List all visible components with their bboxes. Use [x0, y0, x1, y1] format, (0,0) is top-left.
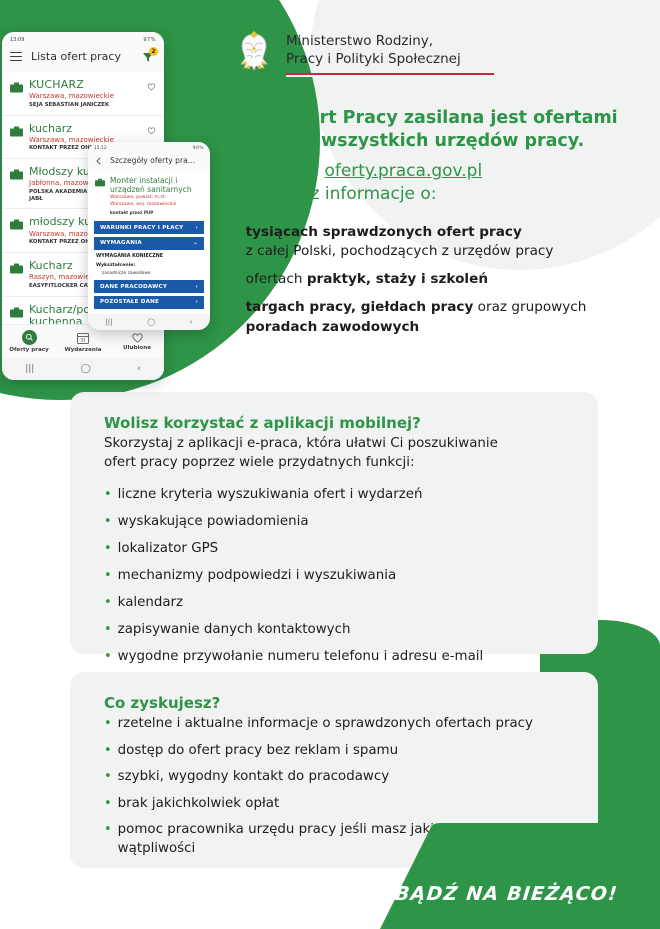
bottom-green-banner — [320, 819, 660, 929]
list-item-label: szybki, wygodny kontakt do pracodawcy — [118, 768, 390, 787]
list-item: •zapisywanie danych kontaktowych — [104, 621, 572, 640]
accordion-label: DANE PRACODAWCY — [100, 284, 167, 290]
chevron-down-icon: ⌄ — [193, 240, 198, 246]
recents-button-icon[interactable]: ||| — [25, 364, 34, 374]
bullet-dot-icon: • — [104, 513, 112, 532]
favorite-heart-icon[interactable] — [147, 82, 156, 91]
list-item-label: lokalizator GPS — [118, 540, 218, 559]
list-item: •rzetelne i aktualne informacje o sprawd… — [104, 715, 572, 734]
status-battery: 97% — [143, 37, 156, 43]
bullet-dot-icon: • — [104, 567, 112, 586]
detail-job-note: kontakt przez PUP — [110, 210, 203, 215]
favorite-heart-icon[interactable] — [147, 126, 156, 135]
status-battery: 90% — [193, 146, 204, 151]
bullet-dot-icon: • — [232, 298, 240, 337]
job-title: KUCHARZ — [29, 79, 114, 91]
chevron-right-icon: › — [195, 284, 198, 290]
requirements-heading: WYMAGANIA KONIECZNE — [96, 254, 202, 259]
briefcase-icon — [10, 307, 23, 318]
bullet-dot-icon: • — [104, 768, 112, 787]
android-navigation-bar: ||| ◯ ‹ — [88, 314, 210, 330]
oferty-praca-link[interactable]: oferty.praca.gov.pl — [324, 161, 482, 181]
site-subline: Na stronie oferty.praca.gov.pl znajdzies… — [232, 160, 632, 206]
accordion-wymagania[interactable]: WYMAGANIA ⌄ — [94, 237, 204, 250]
intro-bullet-3-normal: oraz grupowych — [473, 299, 586, 315]
list-item-label: kalendarz — [118, 594, 183, 613]
requirements-item: zasadnicze zawodowe — [96, 271, 202, 276]
list-item: •lokalizator GPS — [104, 540, 572, 559]
accordion-wymagania-body: WYMAGANIA KONIECZNE Wykształcenie: zasad… — [88, 250, 210, 278]
intro-block: Ministerstwo Rodziny, Pracy i Polityki S… — [232, 28, 632, 346]
briefcase-icon — [10, 169, 23, 180]
list-item-label: liczne kryteria wyszukiwania ofert i wyd… — [118, 486, 423, 505]
bullet-dot-icon: • — [232, 270, 240, 289]
chevron-right-icon: › — [195, 299, 198, 305]
accordion-warunki-pracy-i-placy[interactable]: WARUNKI PRACY I PŁACY › — [94, 221, 204, 234]
mobile-card-lead-line2: ofert pracy poprzez wiele przydatnych fu… — [104, 454, 572, 473]
list-item: •brak jakichkolwiek opłat — [104, 795, 572, 814]
subline-suffix: znajdziesz informacje o: — [232, 184, 437, 204]
bullet-dot-icon: • — [232, 223, 240, 262]
nav-item-oferty-pracy[interactable]: Oferty pracy — [2, 325, 56, 358]
back-button-icon[interactable]: ‹ — [190, 318, 193, 326]
list-item: •liczne kryteria wyszukiwania ofert i wy… — [104, 486, 572, 505]
intro-bullet-1: • tysiącach sprawdzonych ofert pracyz ca… — [232, 223, 632, 262]
job-employer: KONTAKT PRZEZ OHP — [29, 239, 97, 246]
intro-bullet-1-bold: tysiącach sprawdzonych ofert pracy — [246, 224, 522, 240]
bullet-dot-icon: • — [104, 742, 112, 761]
android-navigation-bar: ||| ◯ ‹ — [2, 358, 164, 380]
status-time: 13:09 — [10, 37, 24, 43]
requirements-subheading: Wykształcenie: — [96, 263, 202, 268]
search-icon — [22, 330, 37, 345]
recents-button-icon[interactable]: ||| — [105, 318, 112, 326]
bullet-dot-icon: • — [104, 795, 112, 814]
intro-bullet-1-line2: z całej Polski, pochodzących z urzędów p… — [246, 243, 554, 259]
briefcase-icon — [10, 263, 23, 274]
briefcase-icon — [10, 219, 23, 230]
polish-flag-rule — [286, 73, 494, 77]
status-time: 15:12 — [94, 146, 107, 151]
polish-eagle-emblem-icon — [232, 28, 276, 76]
accordion-dane-pracodawcy[interactable]: DANE PRACODAWCY › — [94, 280, 204, 293]
detail-job-location-2: Warszawa, woj. mazowieckie — [110, 202, 203, 208]
job-title: kucharz — [29, 123, 114, 135]
bullet-dot-icon: • — [104, 621, 112, 640]
intro-bullet-3-bold: targach pracy, giełdach pracy — [246, 299, 474, 315]
job-employer: SEJA SEBASTIAN JANICZEK — [29, 102, 114, 109]
intro-bullet-2-pre: ofertach — [246, 271, 307, 287]
phone-mockup-offer-detail: 15:12 90% Szczegóły oferty pra... Monter… — [88, 142, 210, 330]
list-item: •dostęp do ofert pracy bez reklam i spam… — [104, 742, 572, 761]
bullet-dot-icon: • — [104, 594, 112, 613]
list-item-label: rzetelne i aktualne informacje o sprawdz… — [118, 715, 533, 734]
intro-bullet-2-bold: praktyk, staży i szkoleń — [307, 271, 488, 287]
bullet-dot-icon: • — [104, 486, 112, 505]
intro-bullet-3-line2: poradach zawodowych — [246, 319, 420, 335]
nav-label: Oferty pracy — [9, 347, 49, 353]
job-title: młodszy kuc — [29, 216, 97, 228]
briefcase-icon — [95, 178, 105, 187]
status-bar: 15:12 90% — [88, 142, 210, 152]
list-item: •kalendarz — [104, 594, 572, 613]
detail-title: Szczegóły oferty pra... — [110, 156, 195, 165]
list-item: •wygodne przywołanie numeru telefonu i a… — [104, 648, 572, 667]
intro-bullet-3: • targach pracy, giełdach pracy oraz gru… — [232, 298, 632, 337]
list-item-label: dostęp do ofert pracy bez reklam i spamu — [118, 742, 398, 761]
ministry-name-line1: Ministerstwo Rodziny, — [286, 32, 494, 50]
nav-label: Ulubione — [123, 345, 151, 351]
mobile-card-list: •liczne kryteria wyszukiwania ofert i wy… — [104, 486, 572, 667]
table-row[interactable]: KUCHARZ Warszawa, mazowieckie SEJA SEBAS… — [2, 72, 164, 116]
accordion-label: WYMAGANIA — [100, 240, 142, 246]
detail-job-location-1: Warszawa, powiat: m.st. — [110, 195, 203, 201]
ministry-logo-row: Ministerstwo Rodziny, Pracy i Polityki S… — [232, 28, 632, 77]
svg-text:31: 31 — [80, 337, 86, 343]
poster-canvas: BĄDŹ NA BIEŻĄCO! — [0, 0, 660, 929]
mobile-app-card: Wolisz korzystać z aplikacji mobilnej? S… — [70, 392, 598, 654]
detail-offer-header: Monter instalacji i urządzeń sanitarnych… — [88, 171, 210, 219]
intro-bullet-2: • ofertach praktyk, staży i szkoleń — [232, 270, 632, 289]
list-item-label: wygodne przywołanie numeru telefonu i ad… — [118, 648, 484, 667]
job-location: Warszawa, mazowieckie — [29, 92, 114, 100]
back-button-icon[interactable]: ‹ — [137, 364, 141, 374]
home-button-icon[interactable]: ◯ — [81, 364, 91, 374]
list-item: •wyskakujące powiadomienia — [104, 513, 572, 532]
list-item: •szybki, wygodny kontakt do pracodawcy — [104, 768, 572, 787]
back-arrow-icon[interactable] — [95, 157, 103, 165]
bullet-dot-icon: • — [104, 540, 112, 559]
mobile-card-lead-line1: Skorzystaj z aplikacji e-praca, która uł… — [104, 435, 572, 454]
status-bar: 13:09 97% — [2, 32, 164, 45]
page-headline: Baza Ofert Pracy zasilana jest ofertami … — [232, 107, 632, 153]
detail-job-title: Monter instalacji i urządzeń sanitarnych — [110, 176, 203, 194]
intro-bullet-list: • tysiącach sprawdzonych ofert pracyz ca… — [232, 223, 632, 337]
filter-badge: 2 — [149, 47, 158, 56]
app-title: Lista ofert pracy — [31, 50, 121, 63]
bullet-dot-icon: • — [104, 648, 112, 667]
list-item-label: mechanizmy podpowiedzi i wyszukiwania — [118, 567, 397, 586]
bullet-dot-icon: • — [104, 715, 112, 734]
accordion-label: WARUNKI PRACY I PŁACY — [100, 225, 183, 231]
subline-prefix: Na stronie — [232, 161, 324, 181]
ministry-name-line2: Pracy i Polityki Społecznej — [286, 50, 494, 68]
detail-app-bar: Szczegóły oferty pra... — [88, 152, 210, 171]
bullet-dot-icon: • — [104, 821, 112, 858]
job-location: Warszawa, mazow — [29, 230, 97, 238]
list-item-label: wyskakujące powiadomienia — [118, 513, 309, 532]
list-item-label: brak jakichkolwiek opłat — [118, 795, 280, 814]
briefcase-icon — [10, 82, 23, 93]
app-bar: Lista ofert pracy 2 — [2, 45, 164, 72]
hamburger-menu-icon[interactable] — [10, 52, 22, 62]
mobile-card-title: Wolisz korzystać z aplikacji mobilnej? — [104, 414, 572, 432]
list-item: •mechanizmy podpowiedzi i wyszukiwania — [104, 567, 572, 586]
accordion-pozostale-dane[interactable]: POZOSTAŁE DANE › — [94, 296, 204, 309]
chevron-right-icon: › — [195, 225, 198, 231]
heart-icon — [131, 332, 144, 343]
banner-text: BĄDŹ NA BIEŻĄCO! — [394, 883, 619, 905]
home-button-icon[interactable]: ◯ — [147, 318, 155, 326]
nav-label: Wydarzenia — [64, 347, 101, 353]
list-item-label: zapisywanie danych kontaktowych — [118, 621, 351, 640]
calendar-icon: 31 — [76, 331, 90, 345]
accordion-label: POZOSTAŁE DANE — [100, 299, 159, 305]
briefcase-icon — [10, 126, 23, 137]
gains-card-title: Co zyskujesz? — [104, 694, 572, 712]
